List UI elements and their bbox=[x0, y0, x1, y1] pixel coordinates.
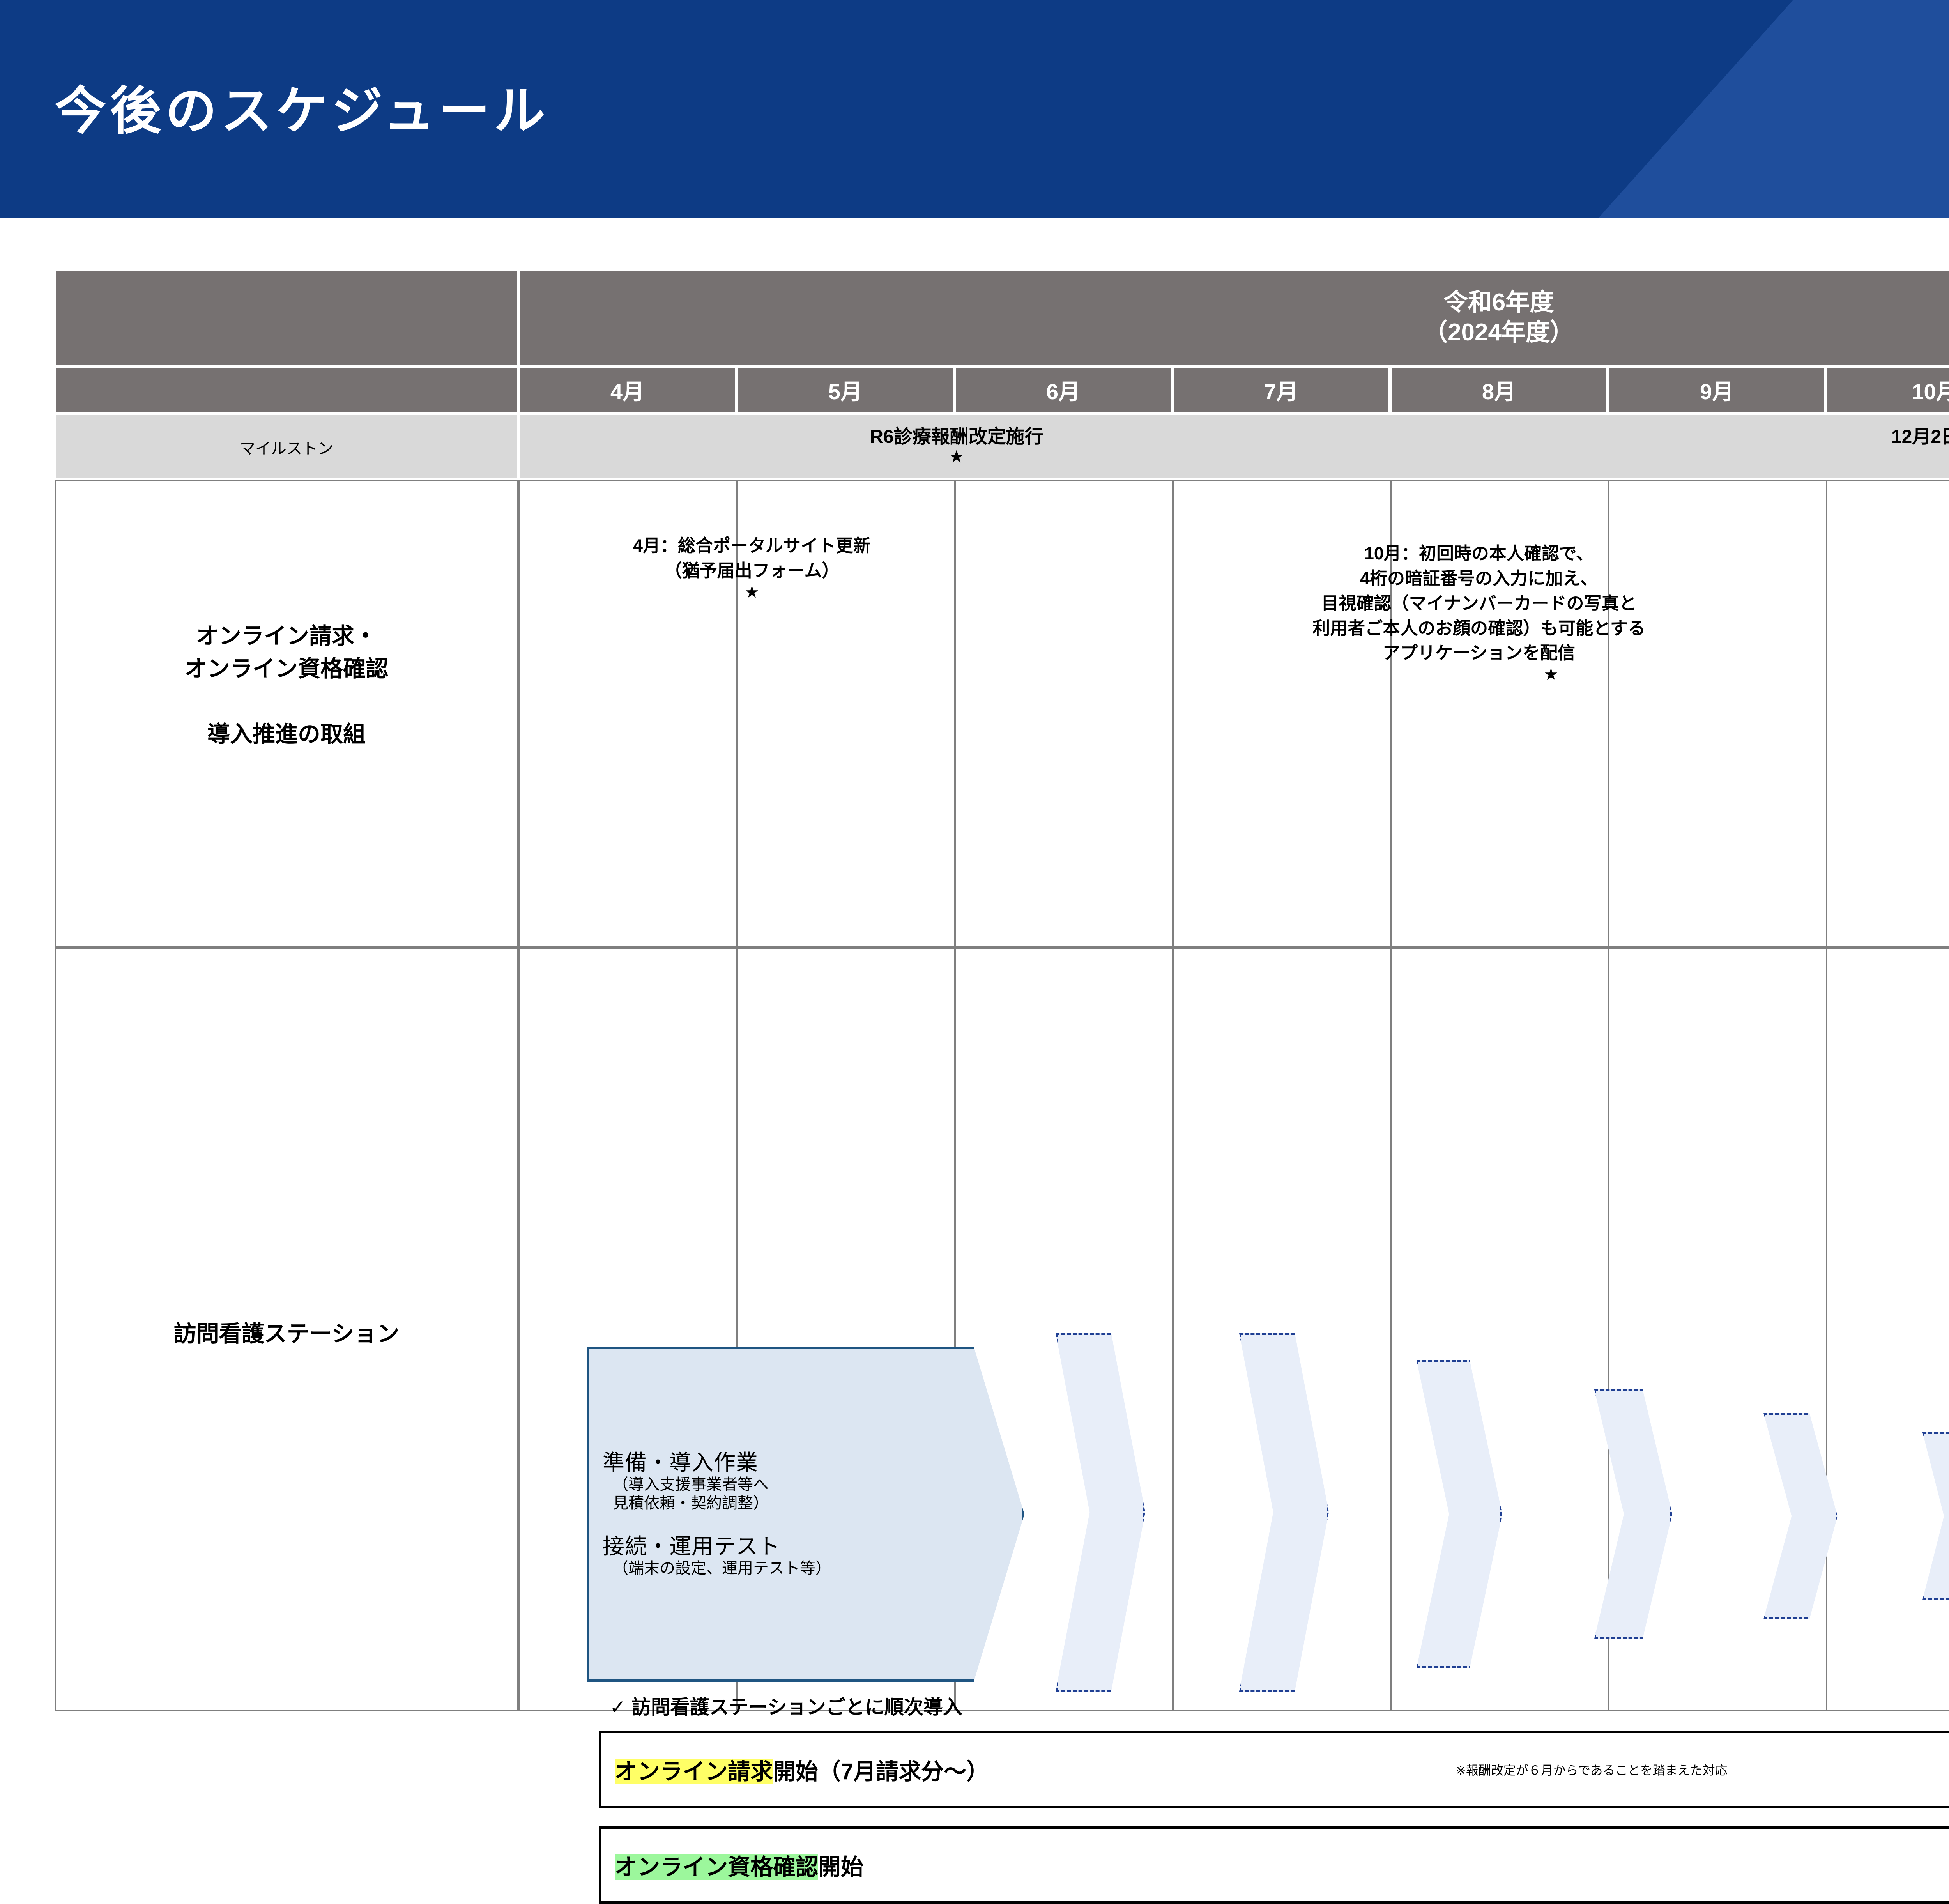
rollout-chevron-1 bbox=[1056, 1333, 1145, 1692]
month-header-10: 10月 bbox=[1826, 366, 1949, 413]
rollout-chevron-2 bbox=[1239, 1333, 1329, 1692]
note-april-portal: 4月：総合ポータルサイト更新 （猶予届出フォーム） ★ bbox=[532, 508, 972, 626]
note-oct31-deadline: 10月31日： 猶予届出提出期限 ★ bbox=[1806, 746, 1949, 864]
phase-preparation-title: 準備・導入作業 bbox=[603, 1451, 1015, 1475]
note-oct31-deadline-star: ★ bbox=[1806, 821, 1949, 839]
month-header-4: 4月 bbox=[518, 366, 736, 413]
row-station-content-cell: 準備・導入作業 （導入支援事業者等へ 見積依頼・契約調整） 接続・運用テスト （… bbox=[518, 947, 1949, 1711]
month-header-7: 7月 bbox=[1172, 366, 1390, 413]
phase-group-test: 接続・運用テスト （端末の設定、運用テスト等） bbox=[589, 1534, 1022, 1578]
milestone-event-1-text: R6診療報酬改定施行 bbox=[738, 421, 1175, 448]
online-qualification-rest: 開始 bbox=[818, 1854, 863, 1880]
month-header-6: 6月 bbox=[954, 366, 1172, 413]
online-billing-bar: オンライン請求開始（7月請求分～） bbox=[599, 1731, 1949, 1808]
col-divider bbox=[1826, 949, 1827, 1710]
milestone-label-cell: マイルストン bbox=[55, 413, 518, 480]
note-october-app: 10月：初回時の本人確認で、 4桁の暗証番号の入力に加え、 目視確認（マイナンバ… bbox=[1140, 516, 1818, 708]
phase-test-title: 接続・運用テスト bbox=[603, 1534, 1015, 1559]
note-april-portal-text: 4月：総合ポータルサイト更新 （猶予届出フォーム） bbox=[633, 536, 871, 580]
milestone-row-label: マイルストン bbox=[56, 436, 517, 458]
table-header-corner-lower bbox=[55, 366, 518, 413]
milestone-event-2-star: ★ bbox=[1915, 448, 1949, 465]
rollout-chevron-6 bbox=[1922, 1432, 1949, 1600]
sequential-rollout-note: ✓ 訪問看護ステーションごとに順次導入 bbox=[610, 1692, 962, 1720]
phase-spacer bbox=[589, 1513, 1022, 1534]
online-qualification-bar-text: オンライン資格確認開始 bbox=[601, 1849, 863, 1881]
row-online-content-cell: 4月：総合ポータルサイト更新 （猶予届出フォーム） ★ 10月：初回時の本人確認… bbox=[518, 480, 1949, 947]
milestone-event-1-star: ★ bbox=[738, 448, 1175, 465]
rollout-chevron-4 bbox=[1594, 1389, 1672, 1639]
month-header-5: 5月 bbox=[736, 366, 954, 413]
note-october-app-text: 10月：初回時の本人確認で、 4桁の暗証番号の入力に加え、 目視確認（マイナンバ… bbox=[1312, 543, 1645, 663]
col-divider bbox=[1826, 481, 1827, 946]
online-qualification-bar: オンライン資格確認開始 bbox=[599, 1826, 1949, 1904]
online-billing-bar-text: オンライン請求開始（7月請求分～） bbox=[601, 1753, 989, 1786]
online-qualification-highlight: オンライン資格確認 bbox=[615, 1854, 818, 1880]
month-header-8: 8月 bbox=[1390, 366, 1608, 413]
online-billing-rest: 開始（7月請求分～） bbox=[773, 1759, 989, 1784]
table-header-corner bbox=[55, 269, 518, 366]
schedule-table: 令和6年度 （2024年度） 4月 5月 6月 7月 8月 9月 10月 11月… bbox=[55, 269, 1949, 1711]
col-divider bbox=[1390, 949, 1392, 1710]
page-title: 今後のスケジュール bbox=[55, 69, 549, 144]
col-divider bbox=[1172, 949, 1174, 1710]
phase-preparation-sub: （導入支援事業者等へ 見積依頼・契約調整） bbox=[603, 1475, 1015, 1513]
milestone-content-cell: R6診療報酬改定施行 ★ 12月2日：保険証の新規発行終了 ★ bbox=[518, 413, 1949, 480]
phase-group-preparation: 準備・導入作業 （導入支援事業者等へ 見積依頼・契約調整） bbox=[589, 1451, 1022, 1513]
rollout-chevron-3 bbox=[1417, 1360, 1502, 1668]
online-billing-bar-note: ※報酬改定が６月からであることを踏まえた対応 bbox=[1456, 1761, 1728, 1778]
online-billing-highlight: オンライン請求 bbox=[615, 1759, 773, 1784]
phase-test-sub: （端末の設定、運用テスト等） bbox=[603, 1559, 1015, 1578]
row-station-label: 訪問看護ステーション bbox=[55, 1318, 518, 1350]
preparation-phase-box: 準備・導入作業 （導入支援事業者等へ 見積依頼・契約調整） 接続・運用テスト （… bbox=[587, 1347, 1024, 1682]
row-online-label: オンライン請求・ オンライン資格確認 導入推進の取組 bbox=[55, 620, 518, 751]
note-april-portal-star: ★ bbox=[532, 583, 972, 601]
note-october-app-star: ★ bbox=[1140, 665, 1818, 683]
page-header-banner: 今後のスケジュール bbox=[0, 0, 1949, 218]
month-header-9: 9月 bbox=[1608, 366, 1826, 413]
milestone-event-2-text: 12月2日：保険証の新規発行終了 bbox=[1697, 421, 1949, 448]
fiscal-year-header: 令和6年度 （2024年度） bbox=[518, 269, 1949, 366]
